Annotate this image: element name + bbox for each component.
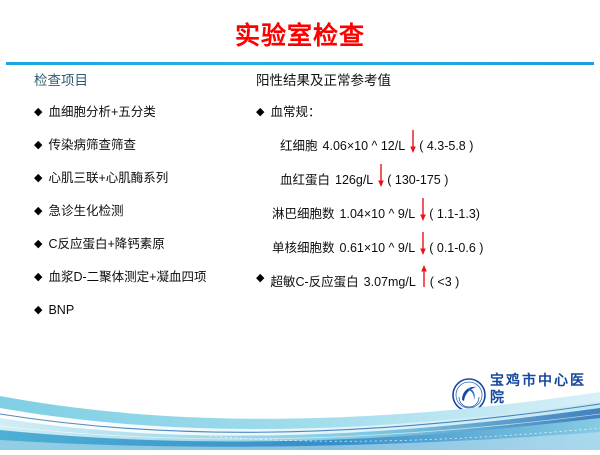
exam-items-column: 检查项目 ◆ 血细胞分析+五分类 ◆ 传染病筛查筛查 ◆ 心肌三联+心肌酶系列 … bbox=[34, 72, 249, 335]
diamond-bullet-icon: ◆ bbox=[256, 270, 264, 286]
result-row: 红细胞 4.06×10 ^ 12/L ( 4.3-5.8 ) bbox=[256, 134, 594, 154]
title-divider bbox=[6, 62, 594, 65]
arrow-down-icon bbox=[408, 134, 418, 150]
list-item-label: BNP bbox=[48, 302, 249, 318]
list-item: ◆ 急诊生化检测 bbox=[34, 203, 249, 219]
diamond-bullet-icon: ◆ bbox=[34, 104, 42, 120]
result-row: 单核细胞数 0.61×10 ^ 9/L ( 0.1-0.6 ) bbox=[256, 236, 594, 256]
group-label-text: 血常规： bbox=[270, 104, 320, 120]
diamond-bullet-icon: ◆ bbox=[34, 203, 42, 219]
title-area: 实验室检查 bbox=[0, 0, 600, 64]
list-item-label: 传染病筛查筛查 bbox=[48, 137, 249, 153]
list-item: ◆ 血浆D-二聚体测定+凝血四项 bbox=[34, 269, 249, 285]
result-reference: ( 130-175 ) bbox=[387, 172, 448, 188]
list-item-label: 血细胞分析+五分类 bbox=[48, 104, 249, 120]
result-row-crp: ◆ 超敏C-反应蛋白 3.07mg/L ( <3 ) bbox=[256, 270, 594, 290]
diamond-bullet-icon: ◆ bbox=[34, 170, 42, 186]
diamond-bullet-icon: ◆ bbox=[34, 302, 42, 318]
footer-wave-decoration bbox=[0, 388, 600, 450]
diamond-bullet-icon: ◆ bbox=[34, 137, 42, 153]
result-reference: ( 4.3-5.8 ) bbox=[419, 138, 473, 154]
result-reference: ( 1.1-1.3) bbox=[429, 206, 480, 222]
exam-items-header: 检查项目 bbox=[34, 72, 249, 90]
diamond-bullet-icon: ◆ bbox=[256, 104, 264, 120]
diamond-bullet-icon: ◆ bbox=[34, 269, 42, 285]
result-value: 3.07mg/L bbox=[364, 274, 416, 290]
list-item: ◆ C反应蛋白+降钙素原 bbox=[34, 236, 249, 252]
diamond-bullet-icon: ◆ bbox=[34, 236, 42, 252]
result-name: 红细胞 bbox=[280, 138, 318, 154]
result-row: 淋巴细胞数 1.04×10 ^ 9/L ( 1.1-1.3) bbox=[256, 202, 594, 222]
result-value: 1.04×10 ^ 9/L bbox=[340, 206, 416, 222]
results-column: 阳性结果及正常参考值 ◆ 血常规： 红细胞 4.06×10 ^ 12/L ( 4… bbox=[256, 72, 594, 304]
result-name: 超敏C-反应蛋白 bbox=[270, 274, 358, 290]
list-item: ◆ BNP bbox=[34, 302, 249, 318]
list-item: ◆ 血细胞分析+五分类 bbox=[34, 104, 249, 120]
result-name: 血红蛋白 bbox=[280, 172, 330, 188]
results-header: 阳性结果及正常参考值 bbox=[256, 72, 594, 90]
result-reference: ( <3 ) bbox=[430, 274, 460, 290]
list-item-label: 血浆D-二聚体测定+凝血四项 bbox=[48, 269, 249, 285]
slide-root: 实验室检查 检查项目 ◆ 血细胞分析+五分类 ◆ 传染病筛查筛查 ◆ 心肌三联+… bbox=[0, 0, 600, 450]
result-reference: ( 0.1-0.6 ) bbox=[429, 240, 483, 256]
arrow-up-icon bbox=[419, 270, 429, 286]
result-value: 0.61×10 ^ 9/L bbox=[340, 240, 416, 256]
result-name: 淋巴细胞数 bbox=[272, 206, 335, 222]
arrow-down-icon bbox=[376, 168, 386, 184]
list-item: ◆ 传染病筛查筛查 bbox=[34, 137, 249, 153]
result-row: 血红蛋白 126g/L ( 130-175 ) bbox=[256, 168, 594, 188]
result-value: 126g/L bbox=[335, 172, 373, 188]
list-item: ◆ 心肌三联+心肌酶系列 bbox=[34, 170, 249, 186]
arrow-down-icon bbox=[418, 236, 428, 252]
list-item-label: 心肌三联+心肌酶系列 bbox=[48, 170, 249, 186]
list-item-label: C反应蛋白+降钙素原 bbox=[48, 236, 249, 252]
blood-routine-group-label: ◆ 血常规： bbox=[256, 104, 594, 120]
arrow-down-icon bbox=[418, 202, 428, 218]
page-title: 实验室检查 bbox=[0, 24, 600, 49]
result-name: 单核细胞数 bbox=[272, 240, 335, 256]
result-value: 4.06×10 ^ 12/L bbox=[323, 138, 406, 154]
list-item-label: 急诊生化检测 bbox=[48, 203, 249, 219]
